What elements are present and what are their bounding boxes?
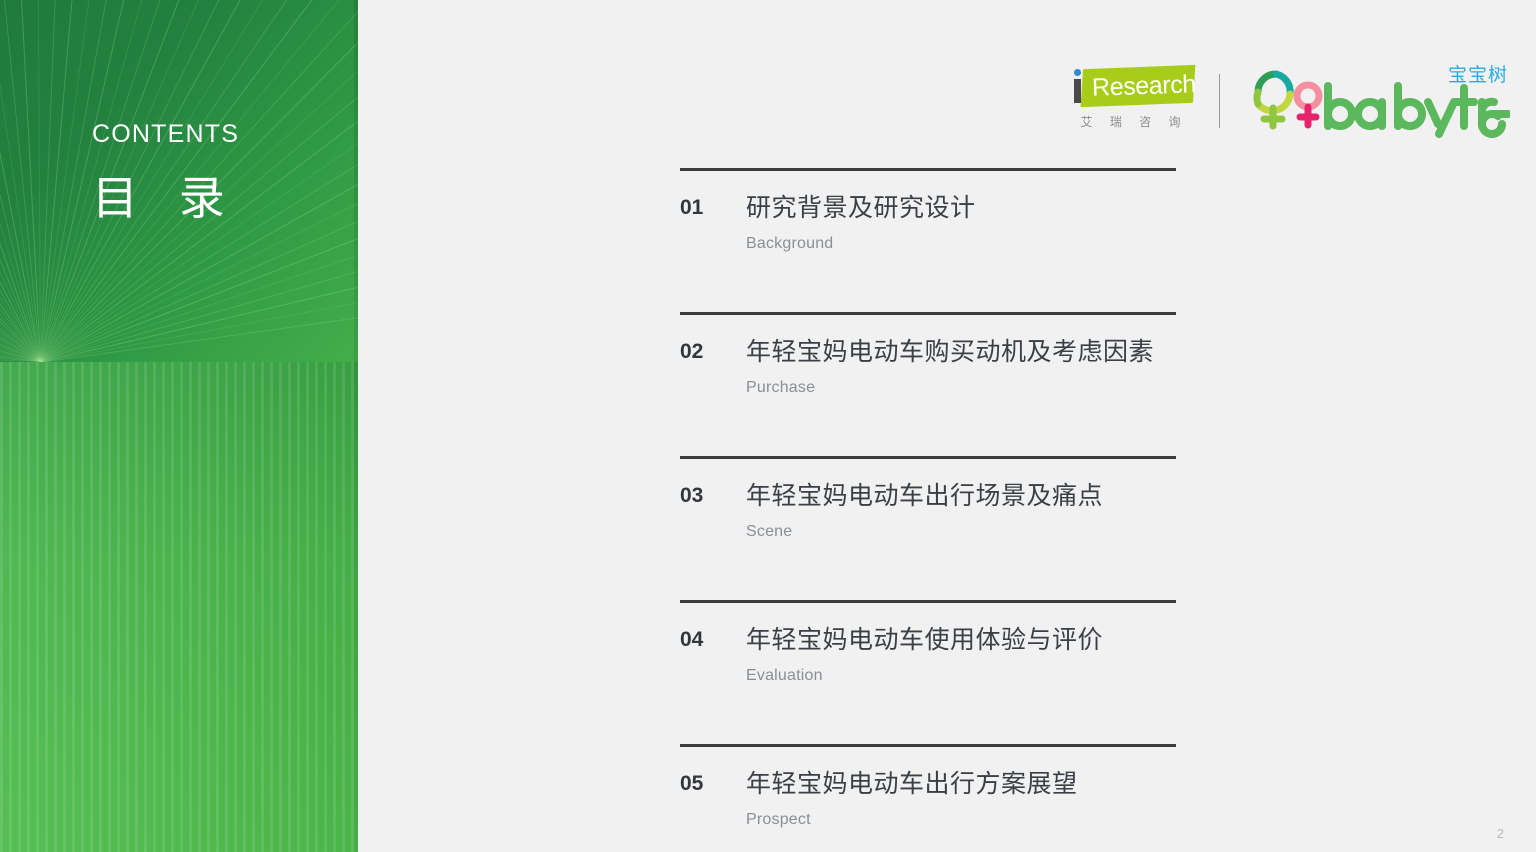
stripes-shading-overlay [0,362,358,852]
toc-item-number: 04 [680,625,746,655]
logo-divider [1219,74,1220,128]
toc-item-number: 05 [680,769,746,799]
toc-item-title-en: Background [746,234,1176,254]
iresearch-subtitle-cn: 艾 瑞 咨 询 [1074,113,1187,130]
toc-item[interactable]: 05年轻宝妈电动车出行方案展望Prospect [680,744,1176,852]
babytree-wordmark [1328,86,1494,134]
iresearch-mark: Research [1068,65,1194,109]
toc-item-number: 03 [680,481,746,511]
page-number: 2 [1497,827,1504,840]
toc-item-title-en: Purchase [746,378,1176,398]
toc-item[interactable]: 02年轻宝妈电动车购买动机及考虑因素Purchase [680,312,1176,456]
toc-item-title-en: Scene [746,522,1176,542]
babytree-wordmark-tail [1482,114,1508,134]
toc-item-number: 01 [680,193,746,223]
toc-item-number: 02 [680,337,746,367]
contents-title-cn: 目 录 [92,175,239,221]
toc-item[interactable]: 03年轻宝妈电动车出行场景及痛点Scene [680,456,1176,600]
iresearch-i-dot-icon [1074,69,1081,76]
toc-item-title-en: Evaluation [746,666,1176,686]
panel-title-block: CONTENTS 目 录 [92,122,239,221]
toc-item-title-cn: 年轻宝妈电动车使用体验与评价 [746,625,1176,655]
slide-root: CONTENTS 目 录 Research 艾 瑞 咨 询 [0,0,1536,852]
toc-item-title-cn: 年轻宝妈电动车购买动机及考虑因素 [746,337,1176,367]
panel-bottom-gradient [0,362,358,852]
panel-right-edge [354,0,358,852]
logo-bar: Research 艾 瑞 咨 询 [1067,62,1510,140]
babytree-symbol-icon [1257,74,1319,126]
contents-list: 01研究背景及研究设计Background02年轻宝妈电动车购买动机及考虑因素P… [680,168,1176,852]
toc-item[interactable]: 01研究背景及研究设计Background [680,168,1176,312]
toc-item-title-cn: 年轻宝妈电动车出行场景及痛点 [746,481,1176,511]
contents-title-en: CONTENTS [92,122,239,147]
iresearch-logo: Research 艾 瑞 咨 询 [1067,65,1195,137]
toc-item-title-cn: 研究背景及研究设计 [746,193,1176,223]
left-green-panel: CONTENTS 目 录 [0,0,358,852]
iresearch-wordmark: Research [1092,70,1197,102]
iresearch-i-stem-icon [1074,79,1081,103]
babytree-brand-cn: 宝宝树 [1448,66,1508,85]
toc-item[interactable]: 04年轻宝妈电动车使用体验与评价Evaluation [680,600,1176,744]
babytree-logo: 宝宝树 [1242,64,1510,138]
toc-item-title-en: Prospect [746,810,1176,830]
toc-item-title-cn: 年轻宝妈电动车出行方案展望 [746,769,1176,799]
